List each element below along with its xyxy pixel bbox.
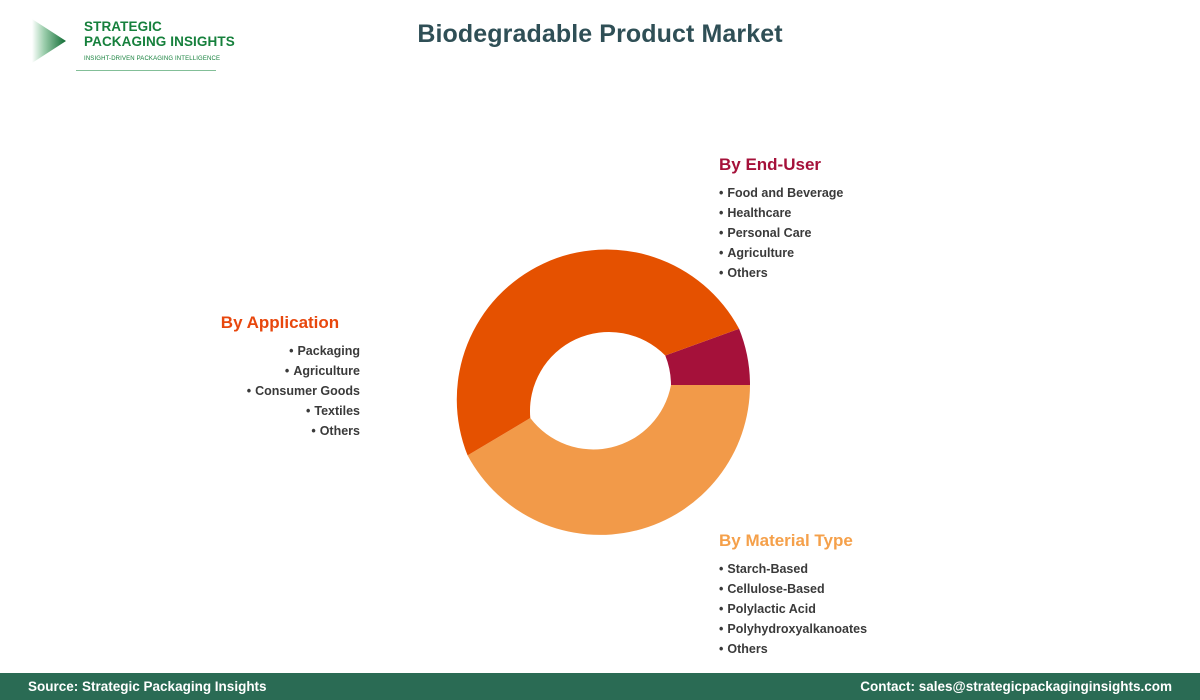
segment-end-user-list: •Food and Beverage •Healthcare •Personal…	[719, 183, 843, 283]
list-item: •Others	[719, 639, 867, 659]
list-item-label: Food and Beverage	[727, 186, 843, 200]
list-item-label: Agriculture	[293, 364, 360, 378]
list-item-label: Consumer Goods	[255, 384, 360, 398]
bullet-icon: •	[719, 602, 723, 616]
bullet-icon: •	[719, 186, 723, 200]
segment-material-type: By Material Type •Starch-Based •Cellulos…	[719, 531, 867, 659]
list-item: •Starch-Based	[719, 559, 867, 579]
bullet-icon: •	[289, 344, 293, 358]
list-item-label: Personal Care	[727, 226, 811, 240]
list-item: •Healthcare	[719, 203, 843, 223]
list-item: •Personal Care	[719, 223, 843, 243]
list-item-label: Textiles	[314, 404, 360, 418]
logo-tagline: INSIGHT-DRIVEN PACKAGING INTELLIGENCE	[84, 56, 220, 62]
bullet-icon: •	[719, 582, 723, 596]
segment-application-title: By Application	[200, 313, 360, 333]
segment-material-type-list: •Starch-Based •Cellulose-Based •Polylact…	[719, 559, 867, 659]
segment-end-user: By End-User •Food and Beverage •Healthca…	[719, 155, 843, 283]
list-item-label: Others	[727, 642, 767, 656]
list-item-label: Others	[320, 424, 360, 438]
page-title: Biodegradable Product Market	[0, 20, 1200, 49]
logo-divider	[76, 70, 216, 71]
segment-end-user-title: By End-User	[719, 155, 843, 175]
footer-contact[interactable]: Contact: sales@strategicpackaginginsight…	[860, 679, 1172, 694]
bullet-icon: •	[285, 364, 289, 378]
list-item: •Consumer Goods	[200, 381, 360, 401]
list-item-label: Cellulose-Based	[727, 582, 824, 596]
list-item: •Food and Beverage	[719, 183, 843, 203]
list-item: •Packaging	[200, 341, 360, 361]
bullet-icon: •	[719, 206, 723, 220]
bullet-icon: •	[719, 266, 723, 280]
list-item-label: Polyhydroxyalkanoates	[727, 622, 867, 636]
infographic-page: STRATEGIC PACKAGING INSIGHTS INSIGHT-DRI…	[0, 0, 1200, 700]
segment-application-list: •Packaging •Agriculture •Consumer Goods …	[200, 341, 360, 441]
list-item: •Others	[200, 421, 360, 441]
bullet-icon: •	[306, 404, 310, 418]
list-item: •Agriculture	[200, 361, 360, 381]
bullet-icon: •	[719, 642, 723, 656]
list-item: •Polyhydroxyalkanoates	[719, 619, 867, 639]
list-item-label: Healthcare	[727, 206, 791, 220]
donut-chart	[450, 235, 750, 535]
list-item-label: Agriculture	[727, 246, 794, 260]
bullet-icon: •	[719, 226, 723, 240]
bullet-icon: •	[719, 246, 723, 260]
list-item-label: Starch-Based	[727, 562, 808, 576]
bullet-icon: •	[311, 424, 315, 438]
bullet-icon: •	[719, 622, 723, 636]
list-item: •Agriculture	[719, 243, 843, 263]
segment-material-type-title: By Material Type	[719, 531, 867, 551]
segment-application: By Application •Packaging •Agriculture •…	[200, 313, 360, 441]
bullet-icon: •	[719, 562, 723, 576]
footer-source: Source: Strategic Packaging Insights	[28, 679, 267, 694]
footer-bar: Source: Strategic Packaging Insights Con…	[0, 673, 1200, 700]
list-item: •Polylactic Acid	[719, 599, 867, 619]
list-item-label: Others	[727, 266, 767, 280]
list-item: •Textiles	[200, 401, 360, 421]
bullet-icon: •	[247, 384, 251, 398]
list-item: •Others	[719, 263, 843, 283]
donut-chart-svg	[450, 235, 750, 535]
list-item-label: Polylactic Acid	[727, 602, 815, 616]
list-item: •Cellulose-Based	[719, 579, 867, 599]
list-item-label: Packaging	[297, 344, 360, 358]
